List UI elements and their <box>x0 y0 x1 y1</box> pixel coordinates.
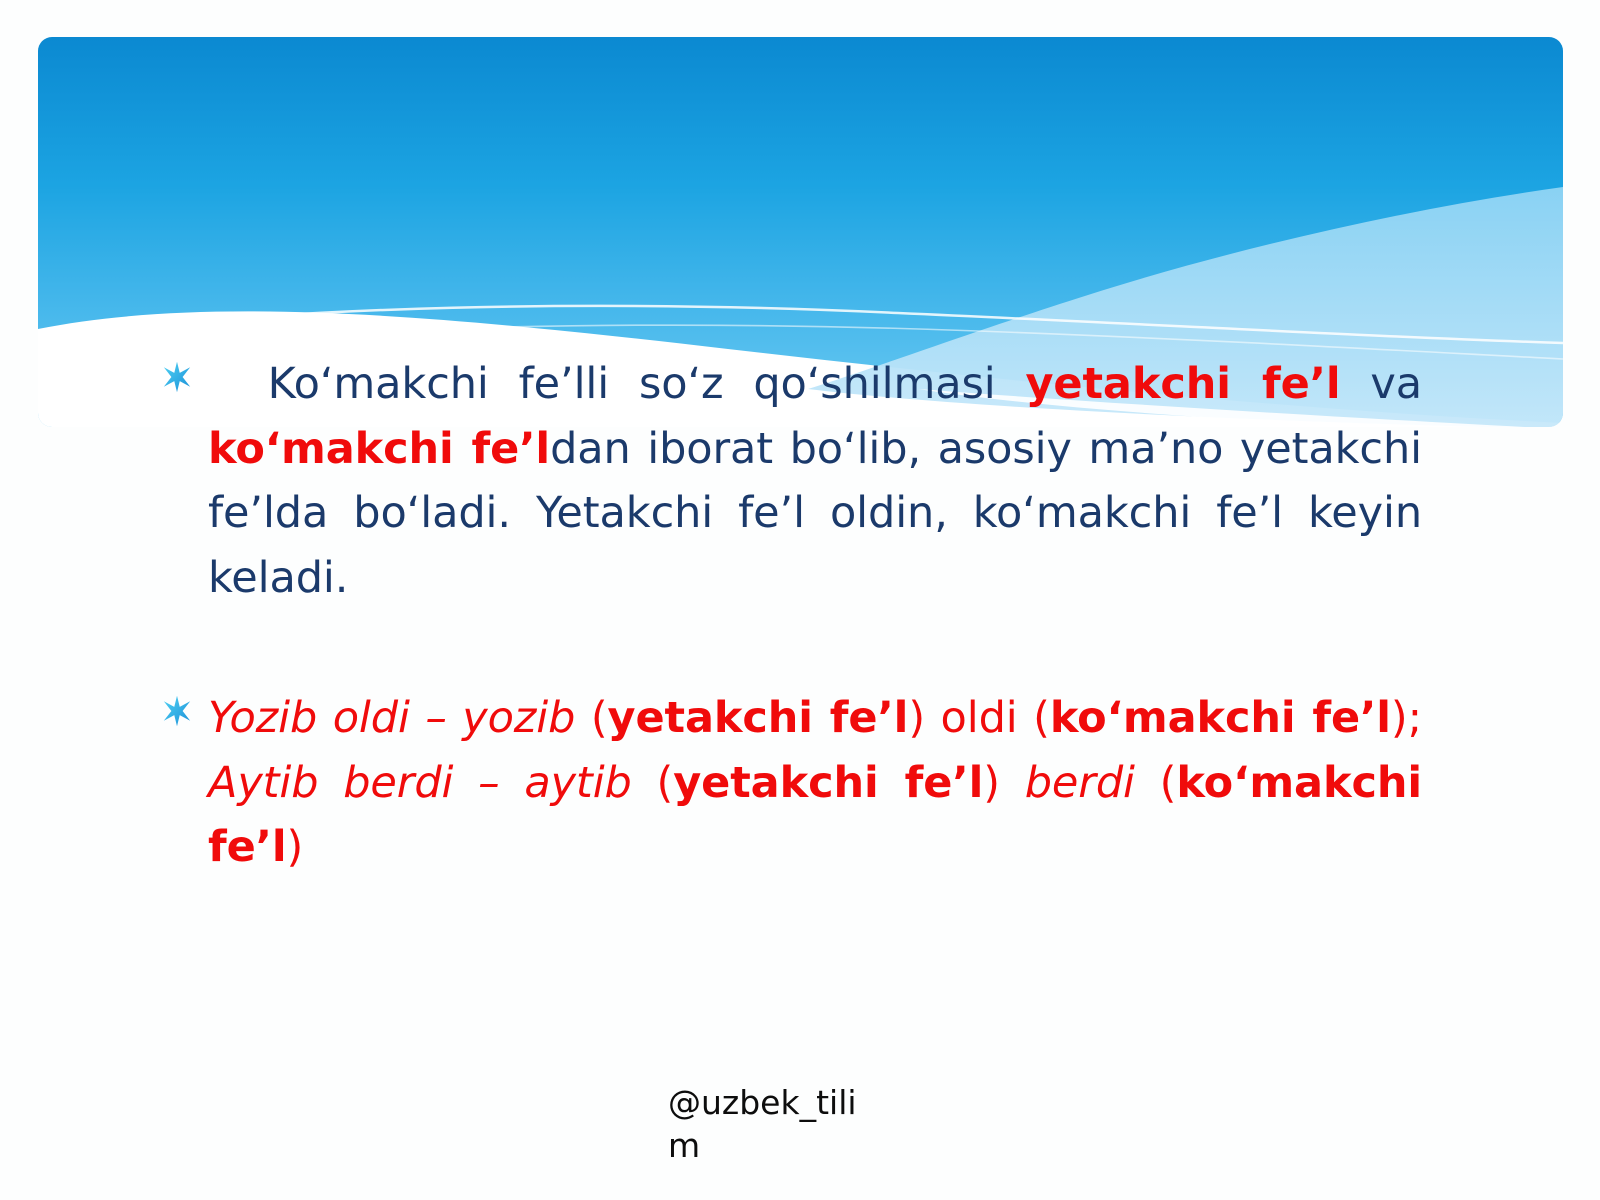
six-point-star-icon <box>160 360 194 404</box>
bullet-1-run-2: va <box>1341 359 1422 409</box>
bullet-1-run-0: Ko‘makchi fe’lli so‘z qo‘shilmasi <box>208 359 1025 409</box>
bullet-2-run-3: ) oldi ( <box>908 693 1050 743</box>
bullet-2-run-13: ) <box>287 822 304 872</box>
bullet-item-definition: Ko‘makchi fe’lli so‘z qo‘shilmasi yetakc… <box>160 352 1422 610</box>
bullet-2-run-0: Yozib oldi – yozib <box>208 693 591 743</box>
slide-content: Ko‘makchi fe’lli so‘z qo‘shilmasi yetakc… <box>0 0 1600 1200</box>
bullet-2-run-1: ( <box>591 693 608 743</box>
bullet-2-paragraph: Yozib oldi – yozib (yetakchi fe’l) oldi … <box>208 686 1422 880</box>
bullet-2-run-10: berdi <box>1025 758 1160 808</box>
bullet-1-paragraph: Ko‘makchi fe’lli so‘z qo‘shilmasi yetakc… <box>208 352 1422 610</box>
bullet-2-run-2: yetakchi fe’l <box>608 693 909 743</box>
bullet-item-examples: Yozib oldi – yozib (yetakchi fe’l) oldi … <box>160 686 1422 880</box>
bullet-2-run-11: ( <box>1160 758 1177 808</box>
bullet-2-run-8: yetakchi fe’l <box>673 758 983 808</box>
six-point-star-glyph <box>160 360 194 394</box>
six-point-star-icon <box>160 694 194 738</box>
bullet-2-run-6: Aytib berdi – aytib <box>208 758 657 808</box>
presentation-slide: Ko‘makchi fe’lli so‘z qo‘shilmasi yetakc… <box>0 0 1600 1200</box>
bullet-1-run-1: yetakchi fe’l <box>1025 359 1340 409</box>
channel-handle: @uzbek_tilim <box>668 1082 883 1168</box>
bullet-2-run-9: ) <box>983 758 1024 808</box>
six-point-star-glyph <box>160 694 194 728</box>
bullet-2-run-7: ( <box>657 758 674 808</box>
bullet-2-run-4: ko‘makchi fe’l <box>1050 693 1391 743</box>
bullet-2-run-5: ); <box>1391 693 1422 743</box>
bullet-1-run-3: ko‘makchi fe’l <box>208 424 550 474</box>
